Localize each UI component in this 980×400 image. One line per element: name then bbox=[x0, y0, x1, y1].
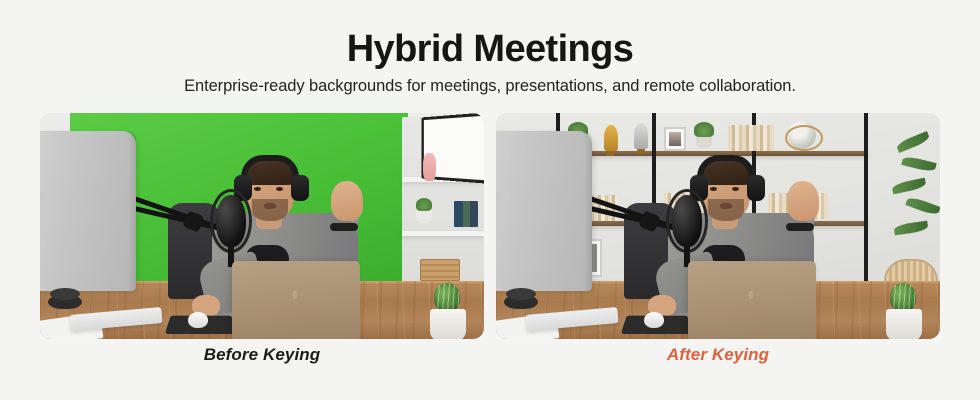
bookcase-post bbox=[864, 113, 868, 303]
headphone-earcup-right bbox=[291, 175, 309, 201]
plant-leaf bbox=[893, 221, 928, 236]
raised-hand bbox=[787, 181, 819, 221]
after-keying-caption: After Keying bbox=[496, 345, 940, 365]
headphones-band bbox=[241, 155, 299, 177]
headphones-band bbox=[697, 155, 755, 177]
shelf-books bbox=[454, 201, 478, 227]
desktop-monitor bbox=[40, 131, 136, 291]
coffee-cup bbox=[504, 295, 538, 309]
comparison-page: Hybrid Meetings Enterprise-ready backgro… bbox=[0, 0, 980, 400]
podcast-microphone bbox=[672, 195, 702, 247]
mouse bbox=[188, 312, 208, 328]
tall-plant bbox=[890, 127, 940, 257]
plant-leaf bbox=[901, 155, 936, 173]
before-keying-caption: Before Keying bbox=[40, 345, 484, 365]
eye-right bbox=[732, 187, 739, 191]
eye-right bbox=[276, 187, 283, 191]
after-keying-image[interactable] bbox=[496, 113, 940, 339]
before-scene bbox=[40, 113, 484, 339]
wristwatch bbox=[330, 223, 358, 231]
after-scene bbox=[496, 113, 940, 339]
before-keying-image[interactable] bbox=[40, 113, 484, 339]
second-monitor bbox=[40, 191, 46, 249]
second-monitor bbox=[496, 191, 502, 249]
headphone-earcup-right bbox=[747, 175, 765, 201]
plant-leaf bbox=[905, 195, 940, 216]
eye-left bbox=[254, 187, 261, 191]
raised-hand bbox=[331, 181, 363, 221]
mouth bbox=[720, 203, 732, 209]
gold-trophy bbox=[604, 125, 618, 151]
caption-row: Before Keying After Keying bbox=[40, 345, 940, 365]
monitor-edge bbox=[584, 131, 592, 291]
laptop bbox=[232, 261, 360, 339]
page-subtitle: Enterprise-ready backgrounds for meeting… bbox=[0, 74, 980, 98]
cactus-pot bbox=[430, 309, 466, 339]
image-comparison-row bbox=[40, 113, 940, 339]
monitor-edge bbox=[128, 131, 136, 291]
podcast-microphone bbox=[216, 195, 246, 247]
eye-left bbox=[710, 187, 717, 191]
plant-leaf bbox=[895, 131, 930, 153]
coffee-cup bbox=[48, 295, 82, 309]
mouth bbox=[264, 203, 276, 209]
desktop-monitor bbox=[496, 131, 592, 291]
plant-leaf bbox=[891, 178, 926, 195]
shelf-board bbox=[402, 231, 484, 236]
page-title: Hybrid Meetings bbox=[0, 26, 980, 72]
wooden-crate bbox=[420, 259, 460, 281]
wristwatch bbox=[786, 223, 814, 231]
laptop bbox=[688, 261, 816, 339]
page-header: Hybrid Meetings Enterprise-ready backgro… bbox=[0, 0, 980, 98]
cactus-pot bbox=[886, 309, 922, 339]
mouse bbox=[644, 312, 664, 328]
shelf-plant bbox=[416, 209, 432, 223]
pink-vase bbox=[423, 153, 436, 181]
